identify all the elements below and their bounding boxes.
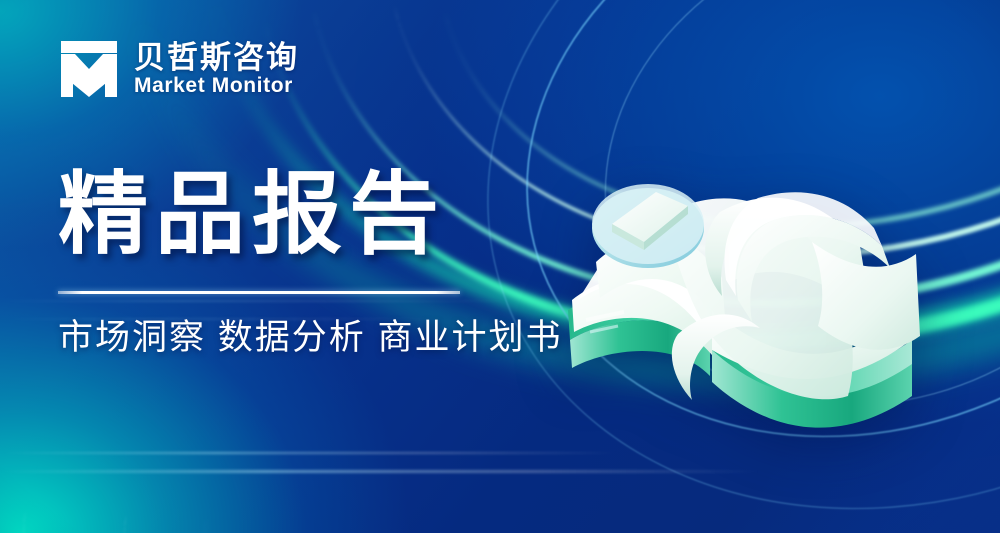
light-band-lower-2 (0, 470, 760, 473)
open-book-illustration (560, 150, 960, 440)
brand-text: 贝哲斯咨询 Market Monitor (134, 42, 299, 96)
brand-logo: 贝哲斯咨询 Market Monitor (58, 38, 299, 100)
headline-block: 精品报告 市场洞察 数据分析 商业计划书 (58, 168, 562, 359)
m-monitor-logo-icon (58, 38, 120, 100)
title-divider (58, 291, 460, 294)
light-band-lower-1 (0, 452, 620, 454)
page-title: 精品报告 (58, 168, 562, 263)
page-subtitle: 市场洞察 数据分析 商业计划书 (58, 318, 562, 358)
brand-name-en: Market Monitor (134, 75, 299, 96)
brand-name-cn: 贝哲斯咨询 (134, 42, 299, 73)
promo-banner: 贝哲斯咨询 Market Monitor 精品报告 市场洞察 数据分析 商业计划… (0, 0, 1000, 533)
